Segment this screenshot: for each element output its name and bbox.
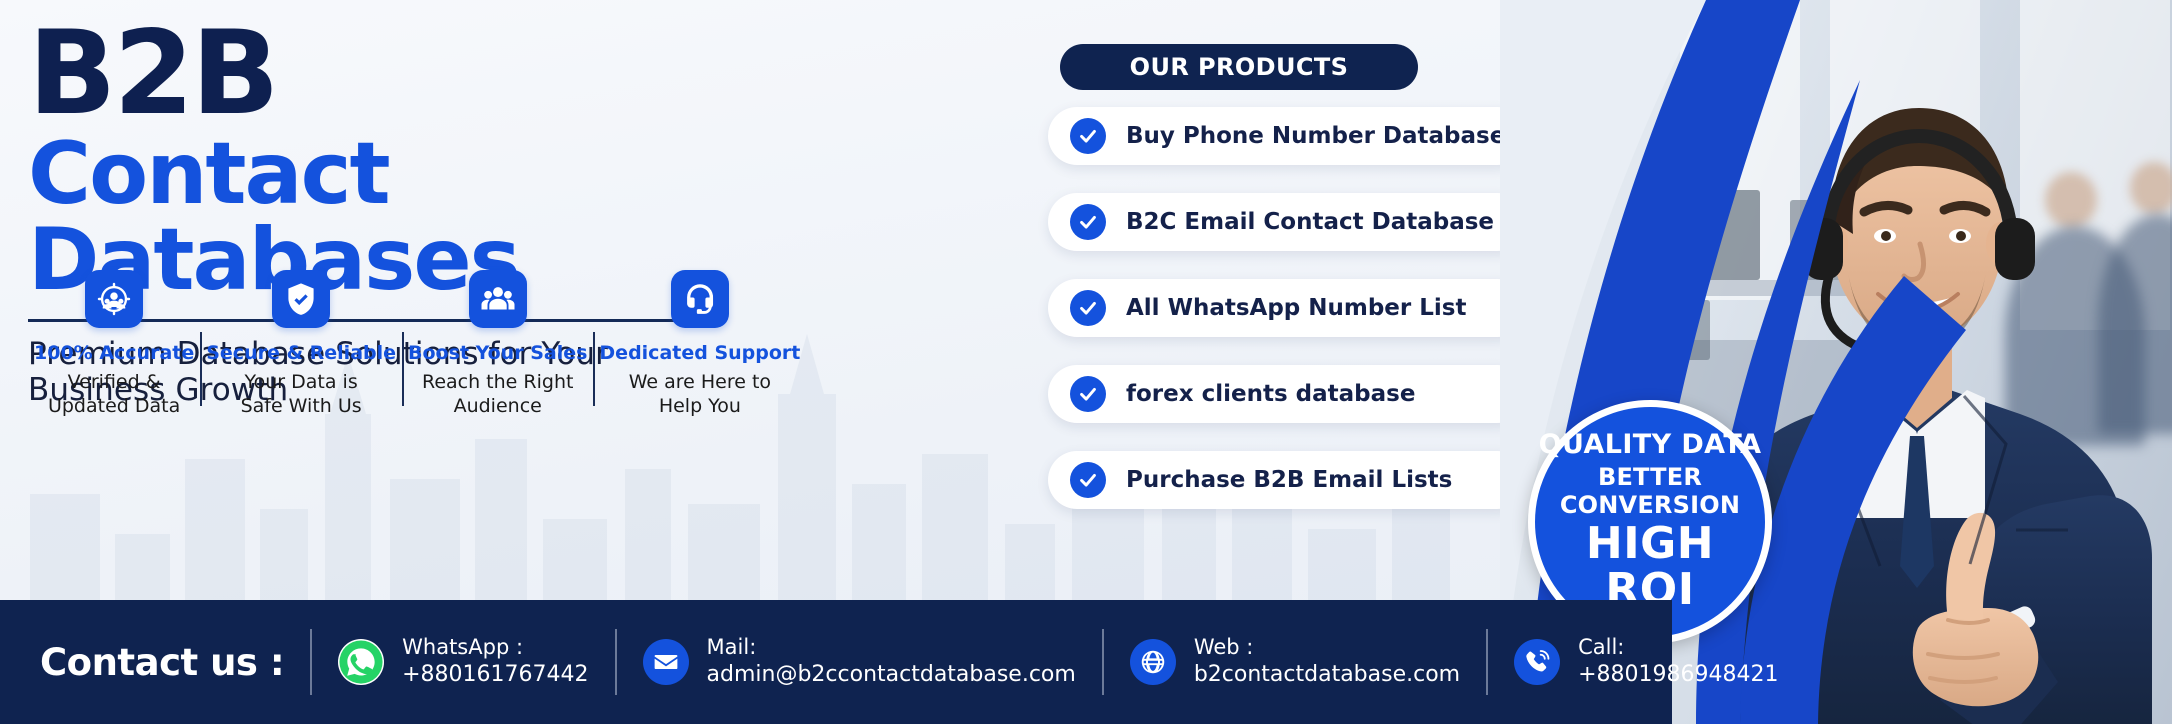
contact-us-label: Contact us :: [40, 641, 284, 684]
product-label: Buy Phone Number Database: [1126, 123, 1505, 149]
feature-title: Dedicated Support: [599, 342, 800, 364]
roi-line-1: QUALITY DATA: [1539, 430, 1762, 460]
contact-text: Web : b2contactdatabase.com: [1194, 634, 1460, 690]
feature-desc: Your Data is Safe With Us: [221, 370, 381, 419]
feature-desc: Reach the Right Audience: [418, 370, 578, 419]
contact-value: b2contactdatabase.com: [1194, 662, 1460, 687]
footer-divider: [310, 629, 312, 695]
product-label: All WhatsApp Number List: [1126, 295, 1467, 321]
check-circle-icon: [1070, 290, 1106, 326]
feature-item-secure: Secure & Reliable Your Data is Safe With…: [200, 270, 402, 419]
target-audience-icon: [85, 270, 143, 328]
roi-line-2: BETTER CONVERSION: [1535, 464, 1765, 519]
check-circle-icon: [1070, 376, 1106, 412]
people-group-icon: [469, 270, 527, 328]
product-item-b2c-email-database[interactable]: B2C Email Contact Database: [1048, 193, 1526, 251]
product-label: Purchase B2B Email Lists: [1126, 467, 1452, 493]
product-label: B2C Email Contact Database: [1126, 209, 1494, 235]
hero-section: B2B Contact Databases Premium Database S…: [28, 18, 748, 598]
contact-label: Mail:: [707, 635, 757, 659]
contact-text: WhatsApp : +880161767442: [402, 634, 588, 690]
contact-call[interactable]: Call: +8801986948421: [1514, 634, 1778, 690]
envelope-icon: [643, 639, 689, 685]
marketing-banner: B2B Contact Databases Premium Database S…: [0, 0, 2172, 724]
product-label: forex clients database: [1126, 381, 1415, 407]
contact-mail[interactable]: Mail: admin@b2ccontactdatabase.com: [643, 634, 1076, 690]
whatsapp-icon: [338, 639, 384, 685]
feature-list: 100% Accurate Verified & Updated Data Se…: [28, 270, 728, 419]
footer-divider: [1102, 629, 1104, 695]
contact-value: +880161767442: [402, 662, 588, 687]
contact-value: admin@b2ccontactdatabase.com: [707, 662, 1076, 687]
product-item-phone-number-database[interactable]: Buy Phone Number Database: [1048, 107, 1526, 165]
products-badge: OUR PRODUCTS: [1060, 44, 1418, 90]
products-section: OUR PRODUCTS Buy Phone Number Database B…: [1048, 44, 1528, 537]
contact-whatsapp[interactable]: WhatsApp : +880161767442: [338, 634, 588, 690]
feature-item-accurate: 100% Accurate Verified & Updated Data: [28, 270, 200, 419]
check-circle-icon: [1070, 462, 1106, 498]
check-circle-icon: [1070, 204, 1106, 240]
contact-text: Mail: admin@b2ccontactdatabase.com: [707, 634, 1076, 690]
feature-title: 100% Accurate: [34, 342, 194, 364]
feature-item-sales: Boost Your Sales Reach the Right Audienc…: [402, 270, 593, 419]
product-item-b2b-email-lists[interactable]: Purchase B2B Email Lists: [1048, 451, 1526, 509]
page-title-line1: B2B: [28, 18, 748, 129]
contact-web[interactable]: Web : b2contactdatabase.com: [1130, 634, 1460, 690]
product-item-forex-clients-database[interactable]: forex clients database: [1048, 365, 1526, 423]
feature-desc: We are Here to Help You: [620, 370, 780, 419]
shield-check-icon: [272, 270, 330, 328]
contact-value: +8801986948421: [1578, 662, 1778, 687]
footer-divider: [1486, 629, 1488, 695]
contact-footer: Contact us : WhatsApp : +880161767442: [0, 600, 1672, 724]
contact-label: WhatsApp :: [402, 635, 523, 659]
footer-divider: [615, 629, 617, 695]
contact-text: Call: +8801986948421: [1578, 634, 1778, 690]
contact-label: Web :: [1194, 635, 1254, 659]
contact-label: Call:: [1578, 635, 1624, 659]
phone-ring-icon: [1514, 639, 1560, 685]
feature-desc: Verified & Updated Data: [34, 370, 194, 419]
feature-item-support: Dedicated Support We are Here to Help Yo…: [593, 270, 806, 419]
globe-icon: [1130, 639, 1176, 685]
feature-title: Boost Your Sales: [408, 342, 587, 364]
feature-title: Secure & Reliable: [206, 342, 396, 364]
headset-support-icon: [671, 270, 729, 328]
product-list: Buy Phone Number Database B2C Email Cont…: [1048, 107, 1528, 509]
product-item-whatsapp-number-list[interactable]: All WhatsApp Number List: [1048, 279, 1526, 337]
check-circle-icon: [1070, 118, 1106, 154]
